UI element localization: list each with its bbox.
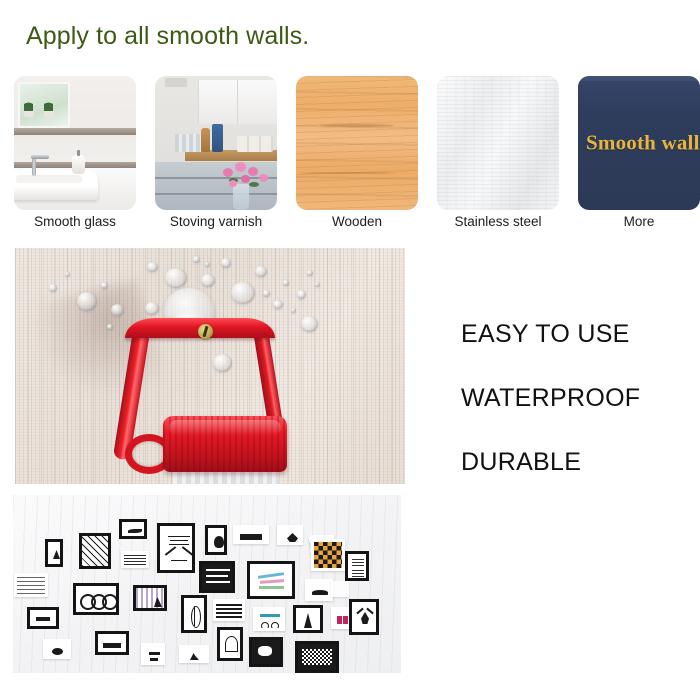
wall-frame [293,605,323,633]
wall-frame [311,539,345,571]
wall-frame [119,519,147,539]
surface-tile-label: Wooden [296,214,418,229]
wall-frame [331,581,349,597]
wall-frame [43,639,71,659]
handle-screw [198,324,213,339]
water-droplet [231,282,255,304]
wall-frame [249,637,283,667]
wall-frame [14,573,48,597]
surface-tile-smooth-glass[interactable]: Smooth glass [14,76,136,244]
surface-tile-label: Stoving varnish [155,214,277,229]
benefit-durable: DURABLE [461,448,691,477]
page-title: Apply to all smooth walls. [26,22,309,51]
water-droplet [273,300,283,309]
surface-tile-label: Smooth glass [14,214,136,229]
wall-frame [247,561,295,599]
water-droplet [221,258,231,268]
wall-frame [157,523,195,573]
water-droplet [77,292,97,311]
water-droplet [297,290,306,299]
wall-frame [233,525,269,544]
wall-frame [141,643,165,665]
wall-frame [305,579,333,601]
benefit-waterproof: WATERPROOF [461,384,691,413]
water-droplet [307,270,313,276]
water-droplet [147,262,158,272]
product-benefits-list: EASY TO USE WATERPROOF DURABLE [461,320,691,512]
wall-frame [181,595,207,633]
water-droplet [315,282,320,287]
water-droplet [291,308,296,313]
wall-frame [79,533,111,569]
hero-suction-hook-photo [15,248,405,484]
surface-thumb-navy-card: Smooth walls [578,76,700,210]
surface-compatibility-row: Smooth glass [14,76,700,244]
water-droplet [49,284,57,292]
wall-frame [133,585,167,611]
wall-frame [253,607,285,631]
wall-frame [121,551,149,568]
wall-frame [277,525,303,545]
water-droplet [213,354,232,372]
bottle-cap [163,416,287,472]
surface-thumb-bathroom [14,76,136,210]
surface-tile-stoving-varnish[interactable]: Stoving varnish [155,76,277,244]
photo-frame-gallery-wall [13,495,401,673]
wall-frame [45,539,63,567]
water-droplet [255,266,267,277]
water-droplet [111,304,124,316]
water-droplet [165,268,187,288]
water-droplet [205,262,210,267]
wall-frame [27,607,59,629]
water-droplet [301,316,318,332]
wall-frame [331,607,351,629]
navy-card-overlay-text: Smooth walls [586,131,700,156]
water-droplet [193,256,200,263]
surface-thumb-kitchen [155,76,277,210]
wall-frame [349,599,379,635]
surface-tile-label: More [578,214,700,229]
water-droplet [65,272,70,277]
wall-frame [213,599,245,621]
water-droplet [145,302,159,315]
benefit-easy-to-use: EASY TO USE [461,320,691,349]
wall-frame [95,631,129,655]
water-droplet [107,324,113,330]
wall-frame [199,561,235,593]
surface-tile-label: Stainless steel [437,214,559,229]
wall-frame [205,525,227,555]
wall-frame [345,551,369,581]
water-droplet [283,280,289,286]
surface-thumb-wood [296,76,418,210]
wall-frame [73,583,119,615]
wall-frame [295,641,339,673]
water-droplet [263,290,270,297]
water-droplet [101,282,108,289]
wall-frame [179,645,209,663]
surface-tile-wooden[interactable]: Wooden [296,76,418,244]
surface-thumb-steel [437,76,559,210]
surface-tile-more[interactable]: Smooth walls More [578,76,700,244]
wall-frame [217,627,243,661]
water-droplet [201,274,215,287]
surface-tile-stainless-steel[interactable]: Stainless steel [437,76,559,244]
product-marketing-image: Apply to all smooth walls. [0,0,700,700]
